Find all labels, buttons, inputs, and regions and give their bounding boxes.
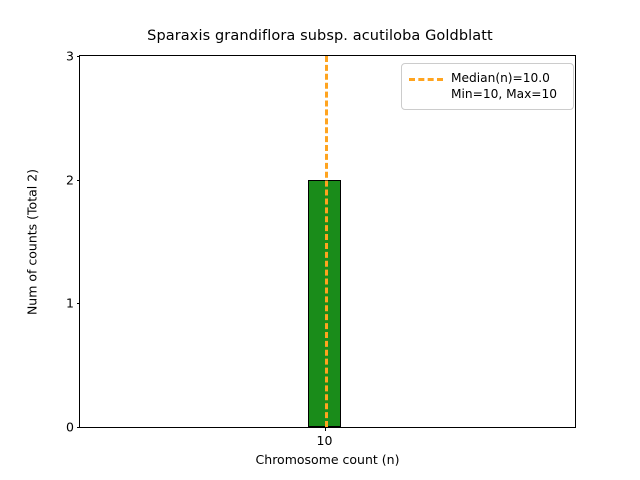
- y-tick-mark-0: [77, 427, 81, 428]
- y-axis-label-container: Num of counts (Total 2): [22, 55, 42, 428]
- legend-entry-median: Median(n)=10.0 Min=10, Max=10: [409, 70, 566, 102]
- x-axis-label: Chromosome count (n): [79, 452, 576, 467]
- dashed-line-icon: [409, 71, 443, 85]
- x-tick-label-10: 10: [317, 433, 333, 448]
- plot-area: 0 1 2 3 10 Median(n)=10.0 Min=10, Max=10: [79, 55, 576, 428]
- x-tick-mark-10: [325, 427, 326, 431]
- y-tick-mark-3: [77, 56, 81, 57]
- y-tick-label-1: 1: [66, 296, 74, 311]
- y-axis-label: Num of counts (Total 2): [25, 168, 40, 314]
- y-tick-label-3: 3: [66, 49, 74, 64]
- legend: Median(n)=10.0 Min=10, Max=10: [401, 63, 574, 110]
- chart-figure: Sparaxis grandiflora subsp. acutiloba Go…: [0, 0, 640, 480]
- legend-entry-text: Median(n)=10.0 Min=10, Max=10: [451, 70, 557, 102]
- y-tick-mark-1: [77, 303, 81, 304]
- y-tick-label-2: 2: [66, 172, 74, 187]
- median-line: [325, 56, 328, 427]
- y-tick-mark-2: [77, 180, 81, 181]
- chart-title: Sparaxis grandiflora subsp. acutiloba Go…: [0, 28, 640, 44]
- legend-minmax-label: Min=10, Max=10: [451, 86, 557, 102]
- y-tick-label-0: 0: [66, 420, 74, 435]
- legend-median-label: Median(n)=10.0: [451, 70, 557, 86]
